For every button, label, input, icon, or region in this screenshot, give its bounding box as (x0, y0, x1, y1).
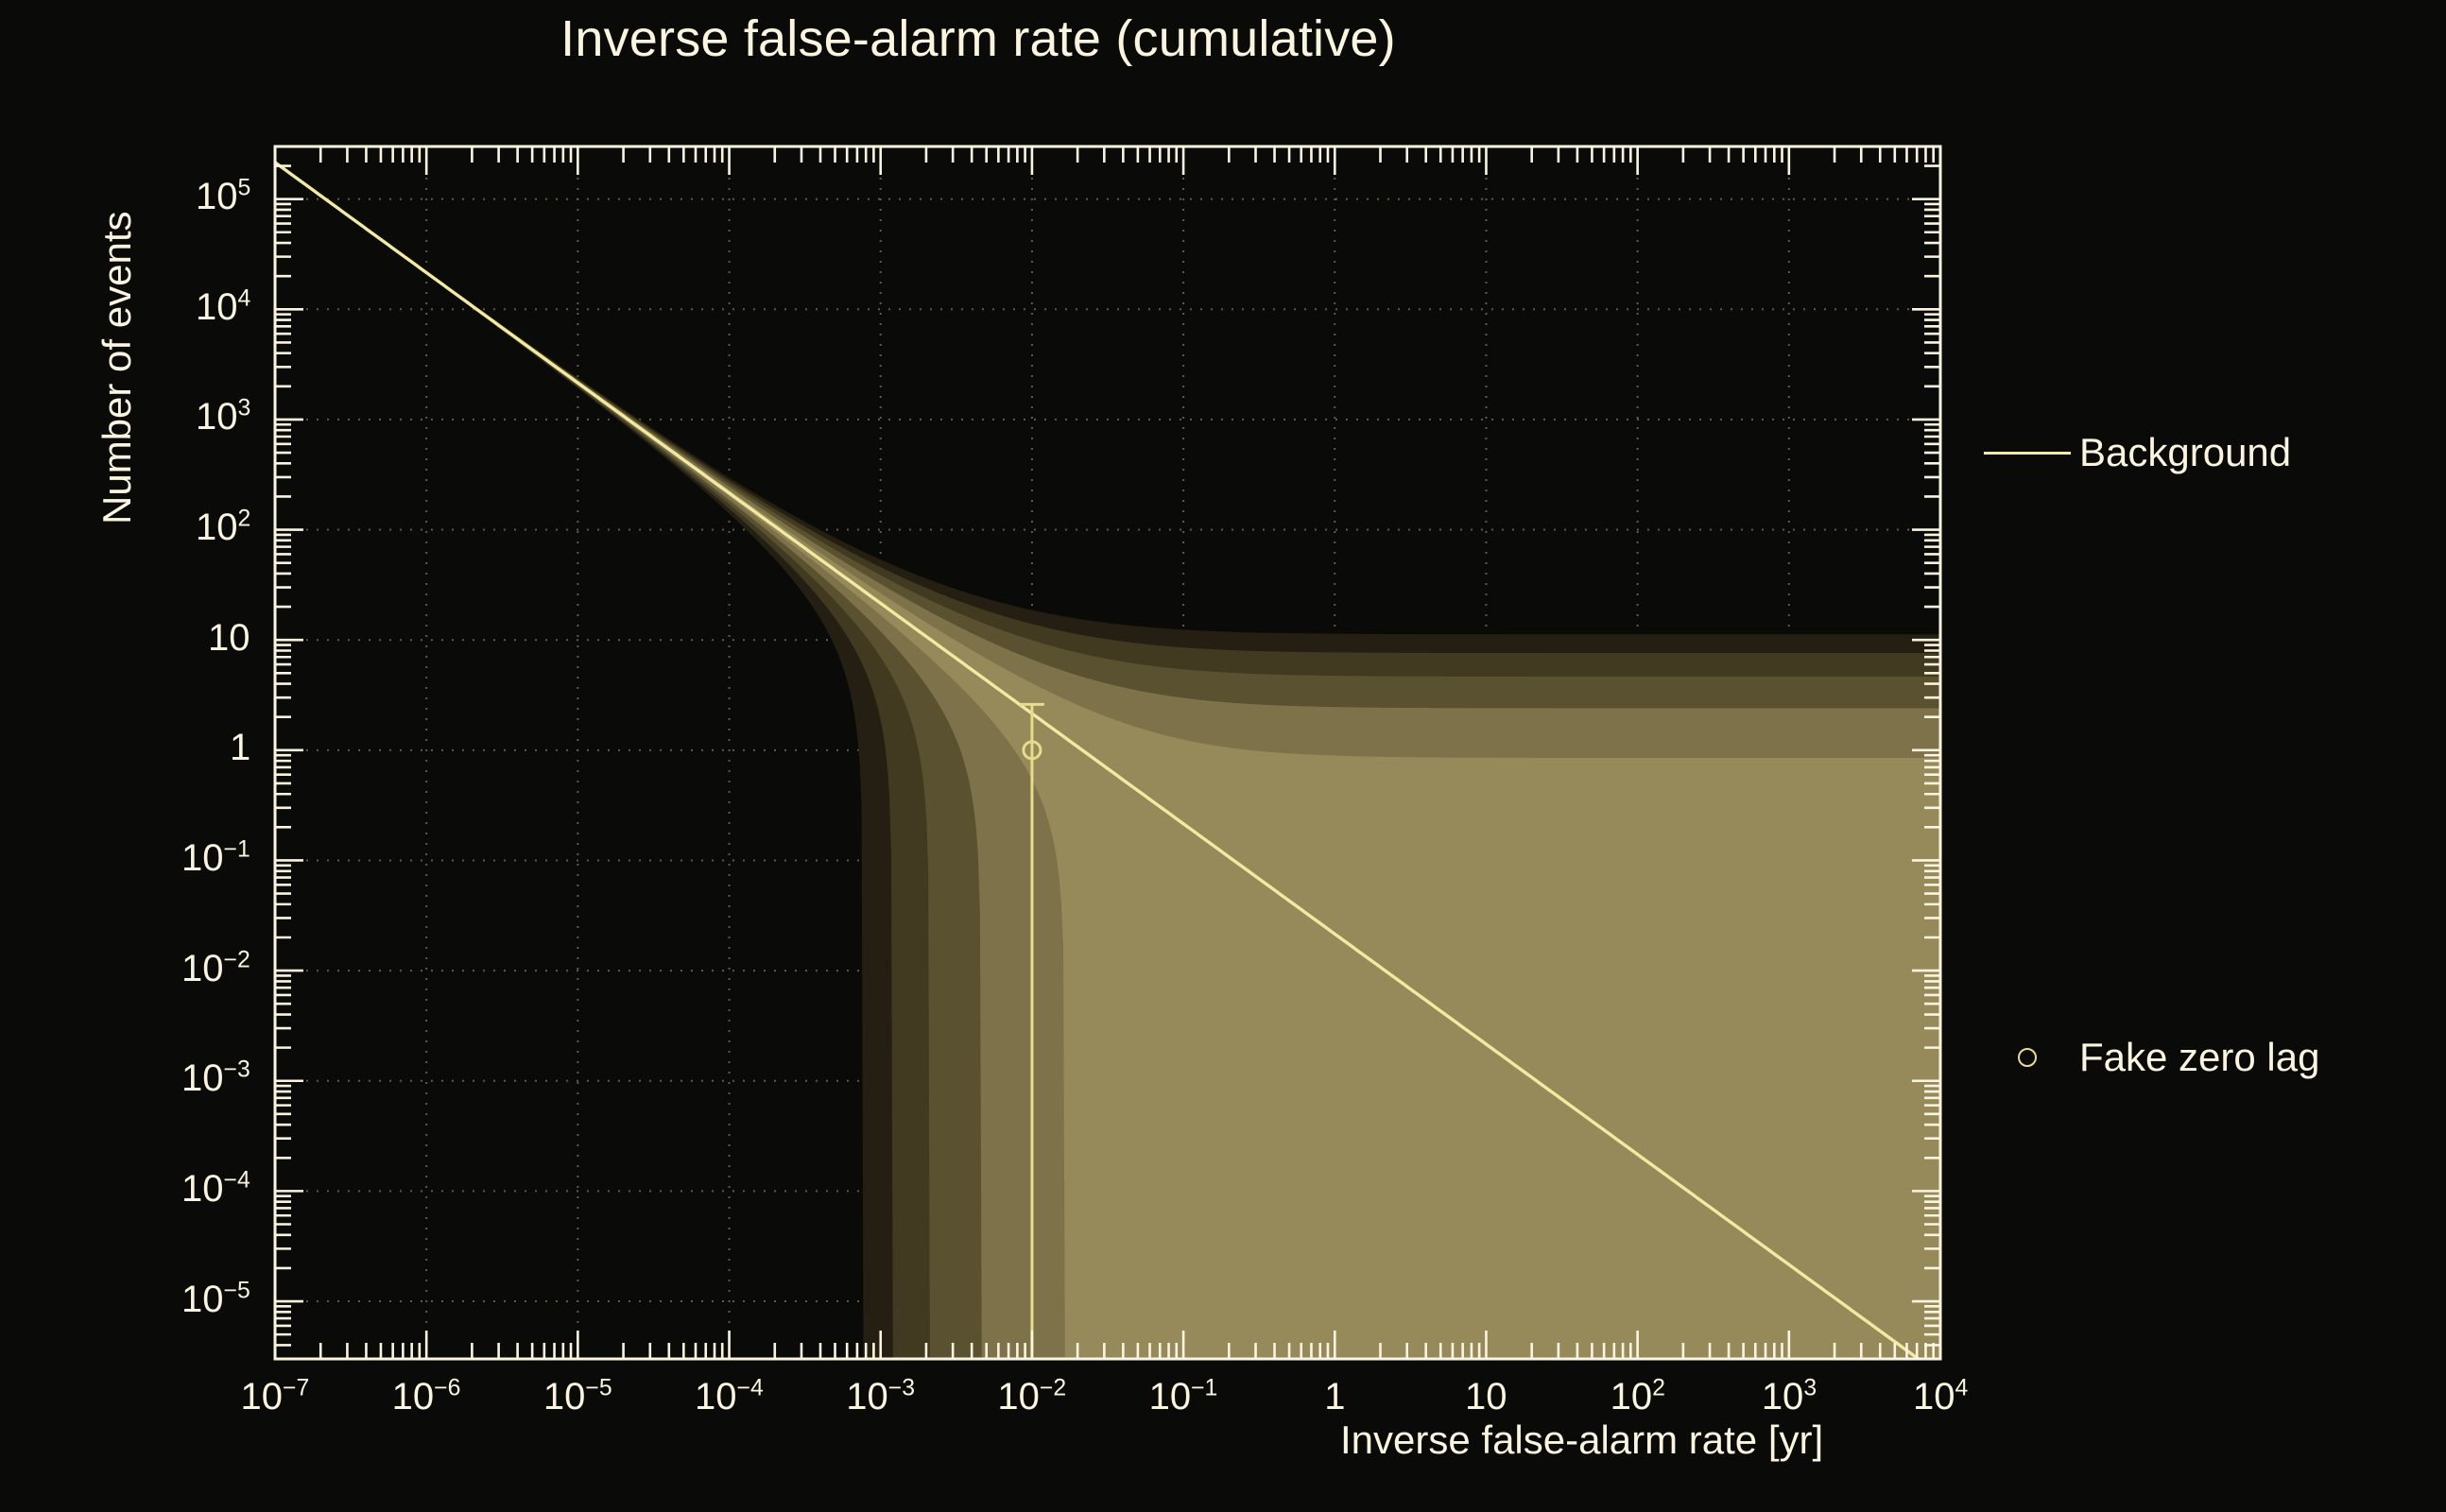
legend-label: Fake zero lag (2079, 1035, 2319, 1080)
x-tick-label: 10−2 (997, 1376, 1066, 1418)
plot-canvas (0, 0, 2446, 1512)
y-tick-label: 104 (196, 286, 250, 329)
legend-label: Background (2079, 430, 2291, 475)
x-tick-label: 10−5 (543, 1376, 612, 1418)
legend-line-icon (1975, 452, 2079, 455)
x-tick-label: 10−7 (241, 1376, 310, 1418)
y-tick-label: 103 (196, 396, 250, 438)
y-tick-label: 10 (208, 617, 250, 660)
x-tick-label: 104 (1913, 1376, 1968, 1418)
y-tick-label: 10−2 (181, 948, 250, 990)
open-circle-marker-icon (1975, 1048, 2079, 1067)
y-tick-label: 102 (196, 507, 250, 549)
x-tick-label: 10−4 (695, 1376, 764, 1418)
y-tick-label: 10−5 (181, 1279, 250, 1321)
legend-item-fake-zero-lag[interactable]: Fake zero lag (1975, 1035, 2319, 1080)
y-tick-label: 10−3 (181, 1057, 250, 1100)
y-tick-label: 1 (230, 727, 250, 769)
x-tick-label: 10−1 (1149, 1376, 1218, 1418)
x-tick-label: 10 (1465, 1376, 1507, 1418)
legend-item-background[interactable]: Background (1975, 430, 2291, 475)
y-tick-label: 10−4 (181, 1168, 250, 1211)
x-tick-label: 10−3 (846, 1376, 915, 1418)
x-tick-label: 1 (1324, 1376, 1345, 1418)
y-tick-label: 10−1 (181, 837, 250, 880)
y-tick-label: 105 (196, 176, 250, 218)
x-tick-label: 103 (1762, 1376, 1817, 1418)
x-tick-label: 10−6 (392, 1376, 461, 1418)
x-tick-label: 102 (1611, 1376, 1665, 1418)
figure-root: Inverse false-alarm rate (cumulative) Nu… (0, 0, 2446, 1512)
